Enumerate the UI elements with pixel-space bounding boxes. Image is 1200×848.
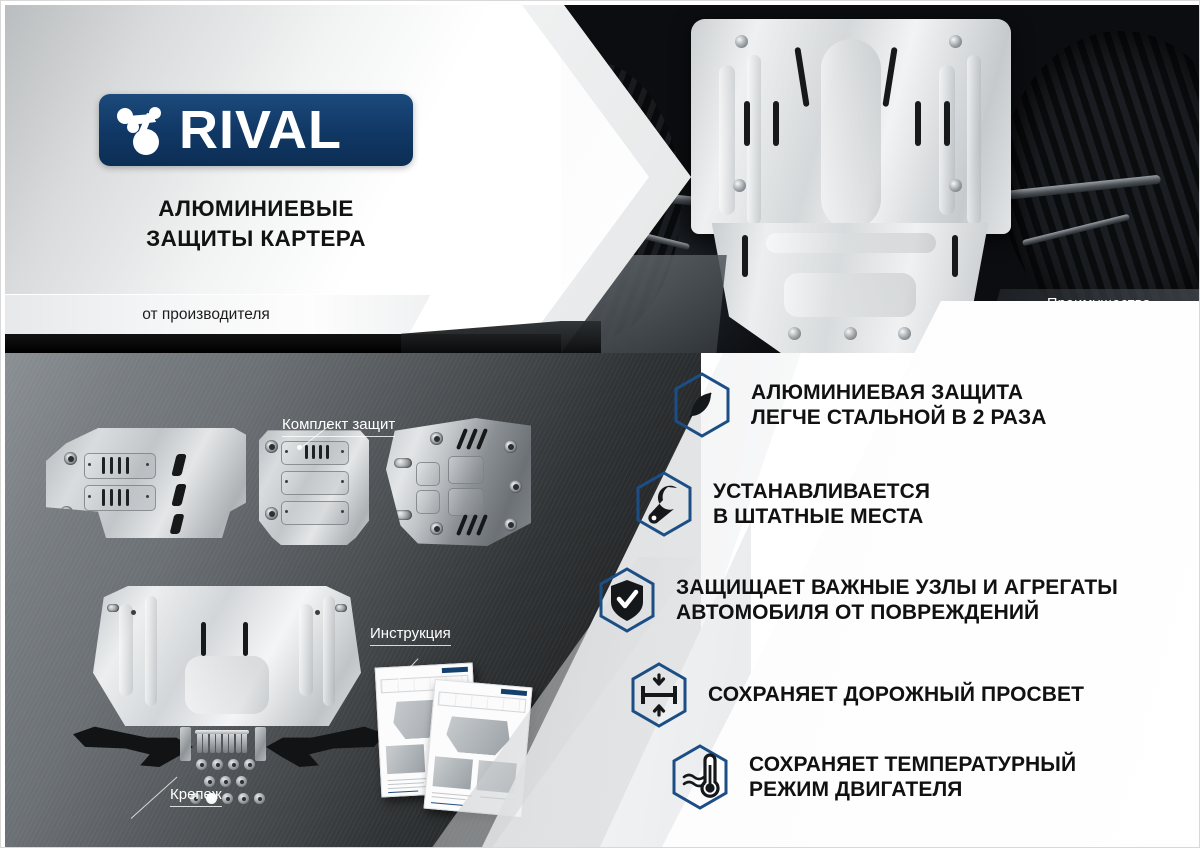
plate-rib [967, 55, 981, 225]
mount-bolt [949, 179, 962, 192]
mount-eyelet [265, 440, 278, 453]
plate-rib [323, 596, 335, 706]
plate-rib [719, 65, 735, 215]
mount-bolt [733, 179, 746, 192]
sheet-line [388, 778, 428, 781]
marker-dot [131, 610, 136, 615]
mount-eyelet [504, 440, 517, 453]
louvre [312, 445, 315, 459]
vent-slot [882, 47, 897, 107]
marker-dot [146, 495, 149, 498]
marker-dot [285, 510, 288, 513]
marker-dot [285, 480, 288, 483]
sheet-line [388, 786, 430, 789]
page-title-line2: ЗАЩИТЫ КАРТЕРА [99, 224, 413, 254]
mount-bolt [949, 35, 962, 48]
louvre [305, 445, 308, 459]
screw [229, 730, 234, 753]
skid-plate-2 [259, 423, 369, 545]
screw [216, 730, 221, 753]
benefit-item-temperature[interactable]: СОХРАНЯЕТ ТЕМПЕРАТУРНЫЙ РЕЖИМ ДВИГАТЕЛЯ [669, 743, 1076, 811]
fastener-strip [180, 727, 191, 761]
benefit-label-temperature: СОХРАНЯЕТ ТЕМПЕРАТУРНЫЙ РЕЖИМ ДВИГАТЕЛЯ [749, 752, 1076, 802]
plate-pad [281, 501, 349, 525]
shield-check-icon [596, 566, 658, 634]
mount-eyelet [430, 432, 443, 445]
benefit-label-fitment: УСТАНАВЛИВАЕТСЯ В ШТАТНЫЕ МЕСТА [713, 479, 930, 529]
washer [254, 793, 265, 804]
washer [236, 776, 247, 787]
vent-slot [794, 47, 809, 107]
mount-bolt [788, 327, 801, 340]
plate-pad [416, 490, 440, 514]
mount-slot [394, 458, 412, 468]
molecule-icon [109, 100, 183, 160]
leaf-icon [671, 371, 733, 439]
subtitle-band: от производителя [1, 294, 431, 336]
marker-dot [341, 450, 344, 453]
sheet-line [388, 782, 424, 785]
marker-dot [341, 510, 344, 513]
louvre [102, 457, 105, 474]
mount-slot [335, 604, 347, 612]
benefit-item-clearance[interactable]: СОХРАНЯЕТ ДОРОЖНЫЙ ПРОСВЕТ [628, 661, 1084, 729]
skid-plate-main [691, 19, 1011, 234]
plate-center-rib [821, 39, 881, 229]
sheet-logo-icon [442, 667, 468, 673]
louvre [110, 457, 113, 474]
marker-dot [88, 463, 91, 466]
louvre [118, 489, 121, 506]
leader-dot-kit [297, 445, 302, 450]
subtitle-text: от производителя [1, 295, 411, 335]
fastener-strip [255, 727, 266, 761]
sheet-line [432, 796, 466, 800]
callout-instruction: Инструкция [370, 625, 451, 646]
plate-pad [281, 441, 349, 465]
wrench-icon [633, 470, 695, 538]
frame-edge-top [1, 1, 1200, 5]
vent-slot [944, 101, 950, 146]
sheet-logo-icon [501, 689, 527, 696]
vent-slot [243, 622, 248, 656]
vent-slot [773, 101, 779, 146]
louvre [126, 489, 129, 506]
plate-rib [766, 233, 936, 253]
benefit-item-protection[interactable]: ЗАЩИЩАЕТ ВАЖНЫЕ УЗЛЫ И АГРЕГАТЫ АВТОМОБИ… [596, 566, 1118, 634]
callout-fasteners-label: Крепеж [170, 786, 222, 803]
plate-pad [448, 488, 484, 516]
washer [222, 793, 233, 804]
sheet-link [388, 791, 418, 794]
benefit-item-weight[interactable]: АЛЮМИНИЕВАЯ ЗАЩИТА ЛЕГЧЕ СТАЛЬНОЙ В 2 РА… [671, 371, 1047, 439]
louvre [326, 445, 329, 459]
louvre [118, 457, 121, 474]
marker-dot [315, 610, 320, 615]
marker-dot [285, 450, 288, 453]
washer [244, 759, 255, 770]
louvre [102, 489, 105, 506]
benefit-label-clearance: СОХРАНЯЕТ ДОРОЖНЫЙ ПРОСВЕТ [708, 682, 1084, 707]
ground-clearance-icon [628, 661, 690, 729]
vent-slot [952, 235, 958, 277]
louvre [319, 445, 322, 459]
benefit-item-fitment[interactable]: УСТАНАВЛИВАЕТСЯ В ШТАТНЫЕ МЕСТА [633, 470, 930, 538]
plate-center-rib [185, 656, 269, 714]
rival-logo-text: RIVAL [179, 103, 342, 157]
mount-eyelet [509, 480, 522, 493]
louvre [110, 489, 113, 506]
skid-plate-3 [386, 418, 531, 546]
screw [242, 730, 247, 753]
mount-bolt [735, 35, 748, 48]
thermometer-icon [669, 743, 731, 811]
sheet-photo [432, 756, 472, 789]
sheet-photo [386, 744, 425, 774]
mount-bolt [844, 327, 857, 340]
callout-underline [370, 645, 451, 646]
washer [212, 759, 223, 770]
marker-dot [88, 495, 91, 498]
plate-rib [145, 596, 157, 706]
plate-pad [448, 456, 484, 484]
benefit-label-weight: АЛЮМИНИЕВАЯ ЗАЩИТА ЛЕГЧЕ СТАЛЬНОЙ В 2 РА… [751, 380, 1047, 430]
callout-fasteners: Крепеж [170, 786, 222, 807]
vent-slot [742, 235, 748, 277]
callout-kit: Комплект защит [282, 416, 395, 437]
sheet-link [431, 802, 463, 806]
rival-logo[interactable]: RIVAL [99, 94, 413, 166]
mount-eyelet [430, 522, 443, 535]
poster-root: Преимущества RIVAL АЛЮМИНИЕВЫЕ ЗАЩИТЫ КА… [0, 0, 1200, 848]
plate-pad [281, 471, 349, 495]
mount-bolt [898, 327, 911, 340]
callout-kit-label: Комплект защит [282, 416, 395, 433]
vent-slot [744, 101, 750, 146]
washer [228, 759, 239, 770]
vent-slot [915, 101, 921, 146]
callout-underline [170, 806, 222, 807]
vent-slot [201, 622, 206, 656]
mount-eyelet [64, 452, 77, 465]
screw [203, 730, 208, 753]
washer [238, 793, 249, 804]
mount-slot [107, 604, 119, 612]
plate-rib [299, 604, 313, 696]
benefits-panel: АЛЮМИНИЕВАЯ ЗАЩИТА ЛЕГЧЕ СТАЛЬНОЙ В 2 РА… [616, 353, 1200, 848]
plate-rib [119, 604, 133, 696]
marker-dot [341, 480, 344, 483]
marker-dot [146, 463, 149, 466]
callout-instruction-label: Инструкция [370, 625, 451, 642]
plate-pad [416, 462, 440, 486]
benefit-label-protection: ЗАЩИЩАЕТ ВАЖНЫЕ УЗЛЫ И АГРЕГАТЫ АВТОМОБИ… [676, 575, 1118, 625]
plate-rib [784, 273, 916, 317]
page-title-line1: АЛЮМИНИЕВЫЕ [99, 194, 413, 224]
mount-eyelet [265, 507, 278, 520]
skid-plate-large [93, 586, 361, 726]
louvre [126, 457, 129, 474]
page-title: АЛЮМИНИЕВЫЕ ЗАЩИТЫ КАРТЕРА [99, 194, 413, 253]
callout-underline [282, 436, 395, 437]
washer [196, 759, 207, 770]
frame-edge-left [1, 1, 5, 848]
mount-eyelet [504, 518, 517, 531]
